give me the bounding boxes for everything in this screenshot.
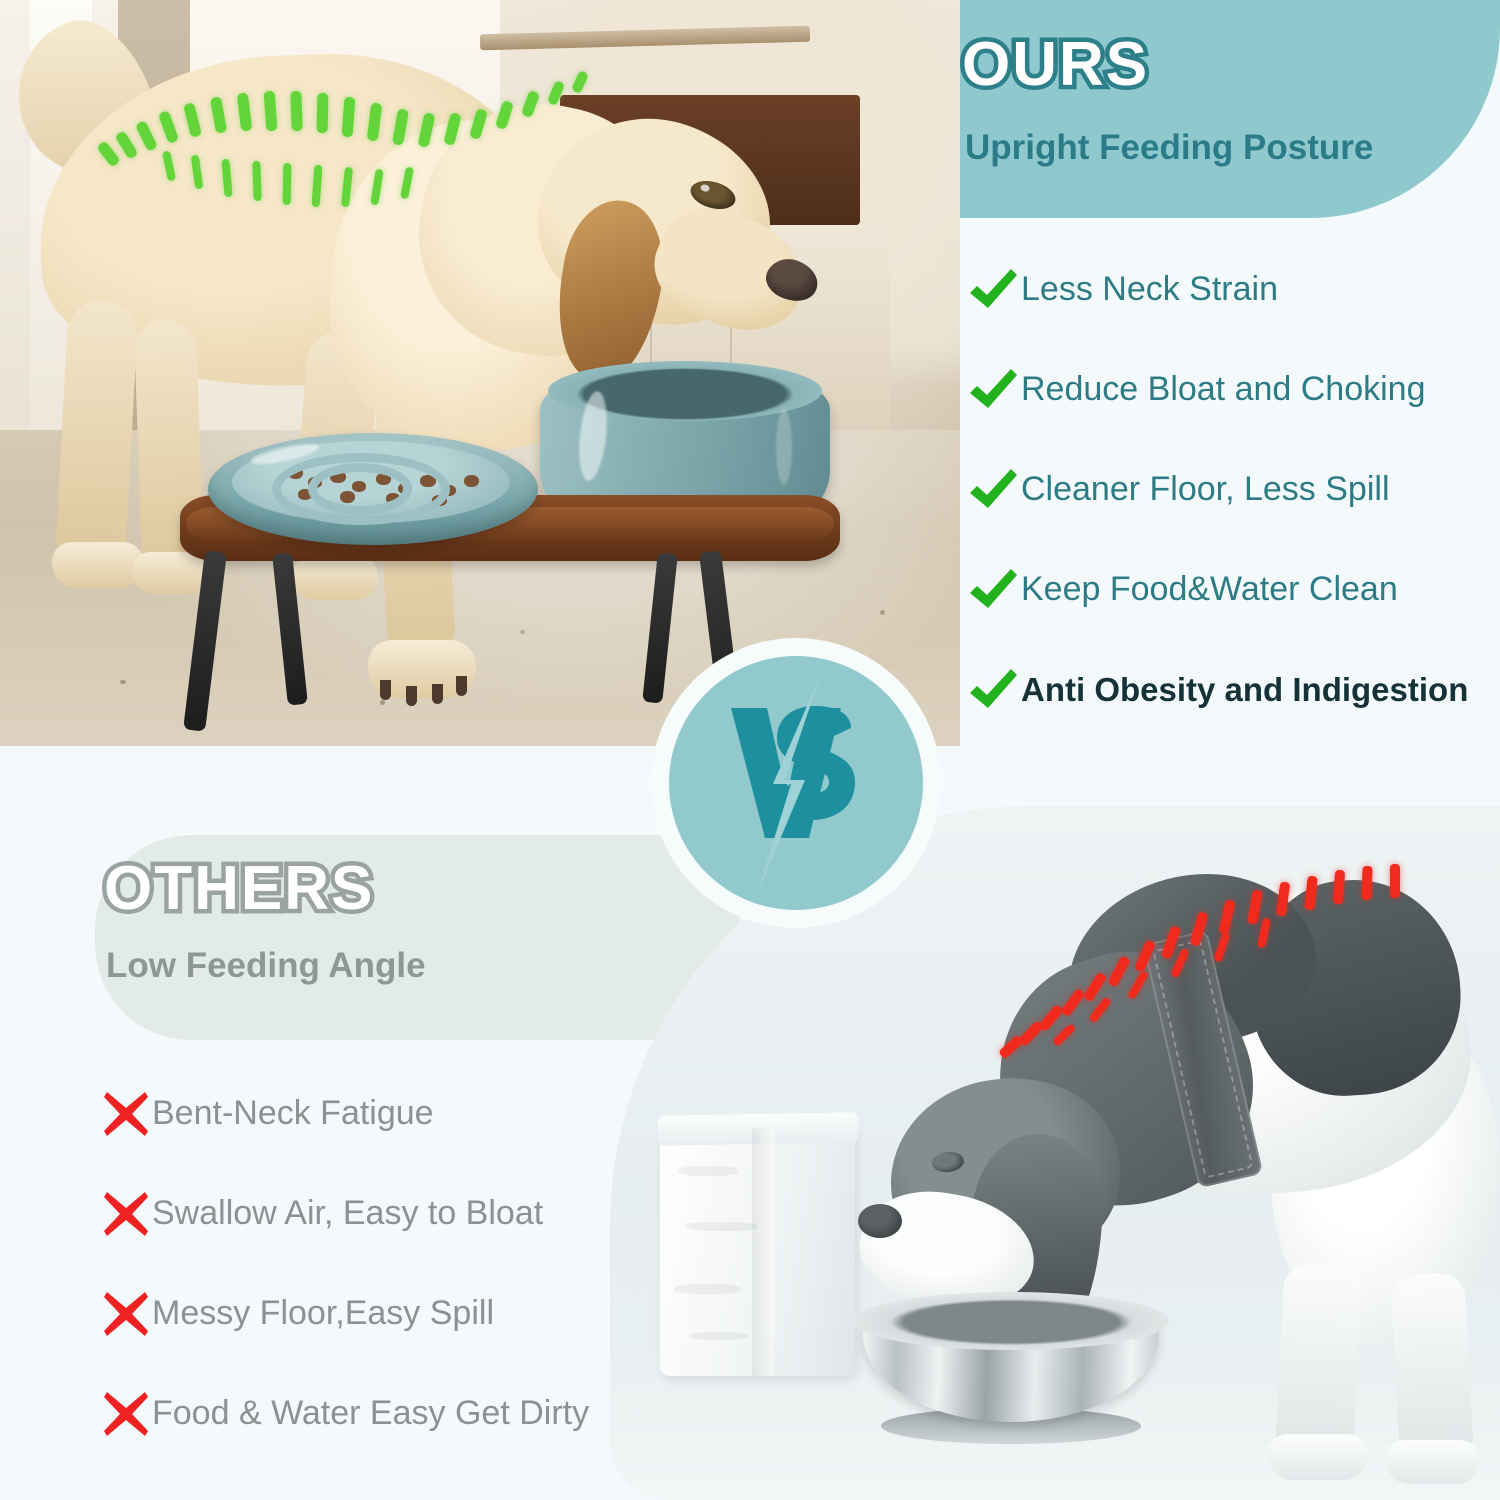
- cross-icon: [100, 1288, 152, 1340]
- ours-subtitle: Upright Feeding Posture: [965, 130, 1373, 165]
- ours-photo: [0, 0, 960, 746]
- list-item: Bent-Neck Fatigue: [100, 1088, 740, 1140]
- vs-badge: [651, 638, 941, 928]
- vs-lettering: [669, 656, 923, 910]
- list-item: Swallow Air, Easy to Bloat: [100, 1188, 740, 1240]
- infographic-canvas: OURS Upright Feeding Posture Less Neck S…: [0, 0, 1500, 1500]
- others-item-label: Bent-Neck Fatigue: [152, 1094, 434, 1133]
- others-drawback-list: Bent-Neck Fatigue Swallow Air, Easy to B…: [100, 1088, 740, 1440]
- list-item: Reduce Bloat and Choking: [965, 362, 1495, 418]
- list-item: Anti Obesity and Indigestion: [965, 662, 1495, 718]
- list-item: Less Neck Strain: [965, 262, 1495, 318]
- ours-title: OURS: [962, 34, 1149, 96]
- cross-icon: [100, 1188, 152, 1240]
- list-item: Cleaner Floor, Less Spill: [965, 462, 1495, 518]
- ours-item-label: Less Neck Strain: [1021, 270, 1278, 309]
- ours-benefit-list: Less Neck Strain Reduce Bloat and Chokin…: [965, 262, 1495, 718]
- cross-icon: [100, 1388, 152, 1440]
- healthy-spine-overlay: [95, 55, 615, 225]
- others-item-label: Swallow Air, Easy to Bloat: [152, 1194, 543, 1233]
- steel-floor-bowl: [845, 1286, 1175, 1456]
- cross-icon: [100, 1088, 152, 1140]
- ours-item-label: Anti Obesity and Indigestion: [1021, 671, 1468, 709]
- others-item-label: Messy Floor,Easy Spill: [152, 1294, 494, 1333]
- ours-item-label: Keep Food&Water Clean: [1021, 570, 1398, 609]
- list-item: Messy Floor,Easy Spill: [100, 1288, 740, 1340]
- check-icon: [965, 662, 1021, 718]
- others-subtitle: Low Feeding Angle: [106, 948, 426, 983]
- check-icon: [965, 562, 1021, 618]
- check-icon: [965, 362, 1021, 418]
- ours-item-label: Cleaner Floor, Less Spill: [1021, 470, 1390, 509]
- others-item-label: Food & Water Easy Get Dirty: [152, 1394, 589, 1433]
- ours-item-label: Reduce Bloat and Choking: [1021, 370, 1426, 409]
- check-icon: [965, 262, 1021, 318]
- strained-spine-overlay: [1000, 844, 1430, 1074]
- others-title: OTHERS: [104, 858, 374, 920]
- list-item: Food & Water Easy Get Dirty: [100, 1388, 740, 1440]
- check-icon: [965, 462, 1021, 518]
- list-item: Keep Food&Water Clean: [965, 562, 1495, 618]
